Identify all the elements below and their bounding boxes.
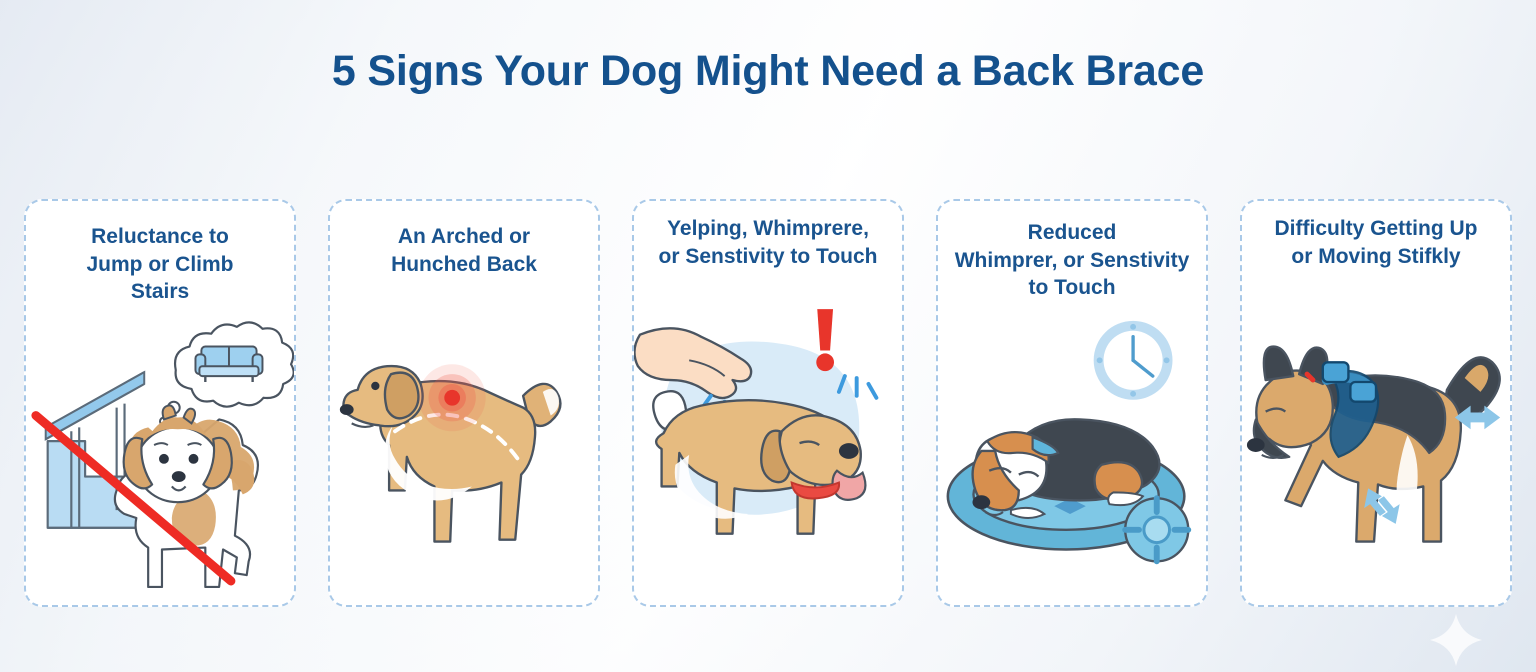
- sign-card-yelping-whimprere-or-senstivity-to-touch[interactable]: Yelping, Whimprere, or Senstivity to Tou…: [632, 199, 904, 607]
- card-title-line: Whimprer, or Senstivity: [924, 247, 1220, 275]
- card-title-line: or Moving Stifkly: [1228, 243, 1524, 271]
- card-title-line: Yelping, Whimprere,: [620, 215, 916, 243]
- illustration-dog-refusing-stairs: [26, 299, 294, 599]
- thought-bubble-icon: [160, 322, 294, 425]
- sign-card-reluctance-to-jump-or-climb-stairs[interactable]: Reluctance to Jump or Climb Stairs: [24, 199, 296, 607]
- card-title-line: Jump or Climb: [12, 251, 308, 279]
- illustration-hand-touching-dog: [634, 299, 902, 599]
- sofa-icon: [195, 347, 262, 382]
- card-title-line: Difficulty Getting Up: [1228, 215, 1524, 243]
- signs-card-row: Reluctance to Jump or Climb Stairs: [24, 199, 1512, 607]
- illustration-shepherd-with-back-brace: [1242, 299, 1510, 599]
- illustration-beagle-sleeping: [938, 299, 1206, 599]
- page-title: 5 Signs Your Dog Might Need a Back Brace: [0, 47, 1536, 96]
- pain-marker-icon: [419, 364, 486, 431]
- exclamation-mark-icon: [816, 309, 834, 371]
- card-title: An Arched or Hunched Back: [316, 223, 612, 278]
- card-title: Reduced Whimprer, or Senstivity to Touch: [924, 219, 1220, 302]
- card-title-line: Reluctance to: [12, 223, 308, 251]
- german-shepherd-stretching: [1247, 347, 1500, 542]
- sparkle-icon: [1428, 612, 1484, 668]
- card-title-line: or Senstivity to Touch: [620, 243, 916, 271]
- card-title-line: to Touch: [924, 274, 1220, 302]
- card-title-line: An Arched or: [316, 223, 612, 251]
- card-title-line: Hunched Back: [316, 251, 612, 279]
- sign-card-reduced-whimprer-or-senstivity-to-touch[interactable]: Reduced Whimprer, or Senstivity to Touch: [936, 199, 1208, 607]
- sign-card-difficulty-getting-up-or-moving-stifkly[interactable]: Difficulty Getting Up or Moving Stifkly: [1240, 199, 1512, 607]
- illustration-dog-with-spine-pain: [330, 299, 598, 599]
- card-title: Reluctance to Jump or Climb Stairs: [12, 223, 308, 306]
- card-title-line: Reduced: [924, 219, 1220, 247]
- ball-icon: [1125, 498, 1188, 561]
- card-title: Difficulty Getting Up or Moving Stifkly: [1228, 215, 1524, 270]
- infographic-page: 5 Signs Your Dog Might Need a Back Brace…: [0, 0, 1536, 672]
- card-title: Yelping, Whimprere, or Senstivity to Tou…: [620, 215, 916, 270]
- clock-icon: [1094, 321, 1173, 400]
- sign-card-arched-or-hunched-back[interactable]: An Arched or Hunched Back: [328, 199, 600, 607]
- tan-dog-profile: [340, 364, 561, 541]
